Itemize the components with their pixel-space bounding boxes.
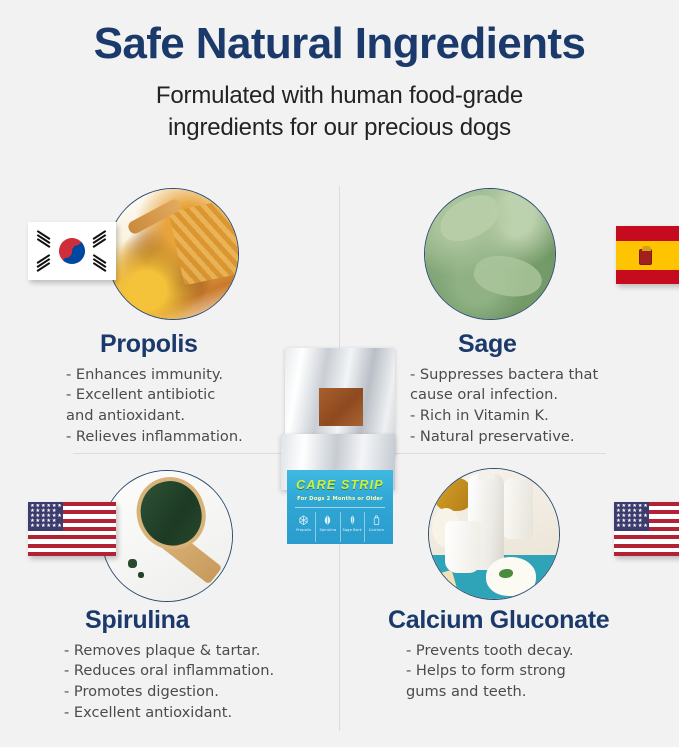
label-icon-text-spirulina: Spirulina — [320, 528, 337, 532]
spirulina-powder-spoon-photo — [101, 470, 233, 602]
ingredient-card-calcium-gluconate: ★★★★★★★★★★★★★★★★★★★★★★★★★★★★ Calcium Glu… — [388, 462, 679, 703]
label-icon-row: Propolis Spirulina Sage Bark — [292, 512, 388, 542]
product-package-photo: CARE STRIP For Dogs 2 Months or Older Pr… — [281, 348, 399, 548]
label-icon-cell-spirulina: Spirulina — [316, 512, 340, 542]
care-strip-patch — [319, 388, 363, 426]
spirulina-icon — [322, 514, 333, 526]
subtitle-line-2: ingredients for our precious dogs — [0, 112, 679, 144]
ingredient-benefits-calcium-gluconate: - Prevents tooth decay. - Helps to form … — [406, 641, 679, 703]
usa-flag-icon-spirulina: ★★★★★★★★★★★★★★★★★★★★★★★★★★★★ — [28, 502, 116, 556]
south-korea-flag-icon — [28, 222, 116, 280]
header: Safe Natural Ingredients Formulated with… — [0, 0, 679, 145]
infographic-page: Safe Natural Ingredients Formulated with… — [0, 0, 679, 747]
sage-icon — [347, 514, 358, 526]
ingredient-name-calcium-gluconate: Calcium Gluconate — [388, 607, 679, 635]
page-subtitle: Formulated with human food-grade ingredi… — [0, 80, 679, 145]
sage-leaves-photo — [424, 188, 556, 320]
product-tagline: For Dogs 2 Months or Older — [287, 496, 393, 502]
honey-honeycomb-photo — [107, 188, 239, 320]
ingredient-name-sage: Sage — [458, 331, 679, 359]
ingredient-name-spirulina: Spirulina — [85, 607, 328, 635]
label-divider — [295, 507, 385, 508]
usa-flag-icon-calcium: ★★★★★★★★★★★★★★★★★★★★★★★★★★★★ — [614, 502, 679, 556]
calcium-icon — [371, 514, 382, 526]
propolis-image-row — [28, 186, 328, 331]
label-icon-cell-propolis: Propolis — [292, 512, 316, 542]
sage-image-row — [396, 186, 679, 331]
ingredient-benefits-spirulina: - Removes plaque & tartar. - Reduces ora… — [64, 641, 328, 724]
label-icon-cell-calcium: Calcium — [365, 512, 388, 542]
propolis-icon — [298, 514, 309, 526]
label-icon-text-calcium: Calcium — [369, 528, 384, 532]
ingredient-card-sage: Sage - Suppresses bactera that cause ora… — [396, 186, 679, 447]
product-label: CARE STRIP For Dogs 2 Months or Older Pr… — [287, 470, 393, 544]
subtitle-line-1: Formulated with human food-grade — [0, 80, 679, 112]
calcium-image-row: ★★★★★★★★★★★★★★★★★★★★★★★★★★★★ — [388, 462, 679, 607]
label-icon-text-propolis: Propolis — [296, 528, 311, 532]
dairy-products-photo — [428, 468, 560, 600]
product-brand-name: CARE STRIP — [287, 478, 393, 492]
page-title: Safe Natural Ingredients — [0, 22, 679, 66]
spain-flag-icon — [616, 226, 679, 284]
label-icon-text-sage: Sage Bark — [343, 528, 362, 532]
label-icon-cell-sage: Sage Bark — [341, 512, 365, 542]
ingredient-benefits-sage: - Suppresses bactera that cause oral inf… — [410, 365, 679, 448]
